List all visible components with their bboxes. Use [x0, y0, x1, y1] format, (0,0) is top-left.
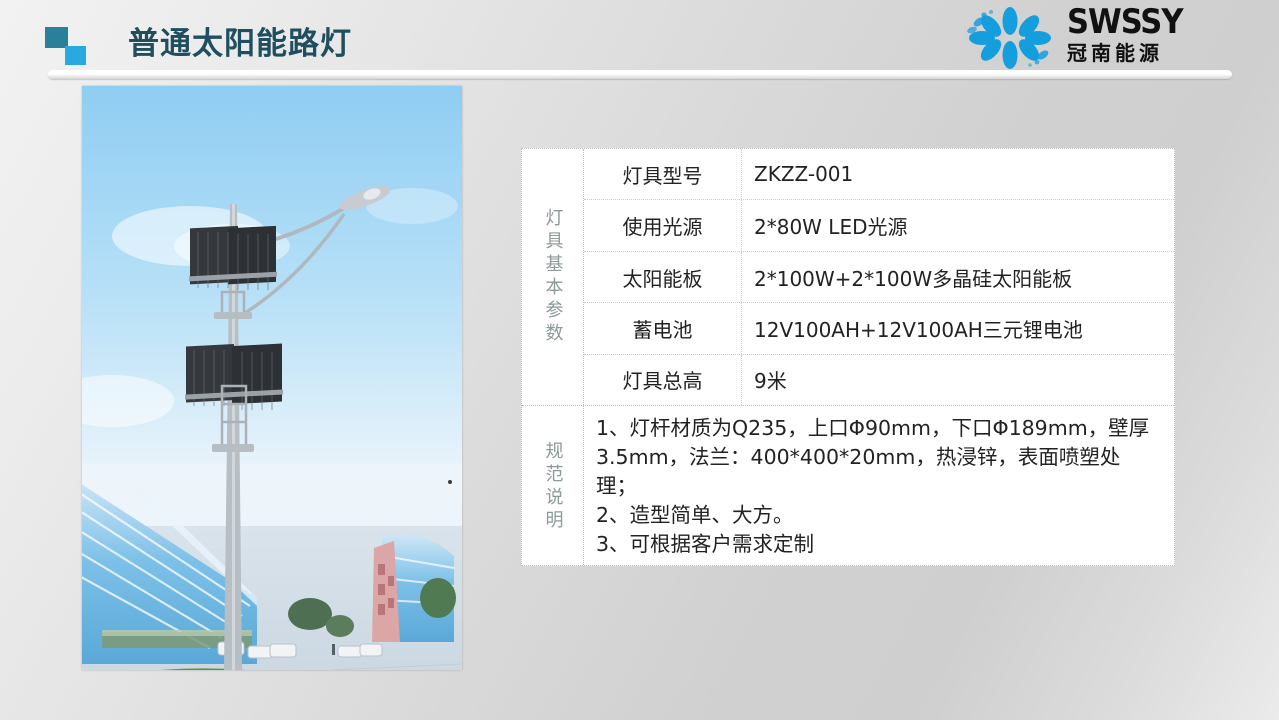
- row-value: 2*100W+2*100W多晶硅太阳能板: [742, 252, 1174, 302]
- basic-parameters-label: 灯具基本参数: [522, 149, 584, 405]
- company-logo: SWSSY 冠南能源: [959, 4, 1221, 70]
- specification-notes-body: 1、灯杆材质为Q235，上口Φ90mm，下口Φ189mm，壁厚3.5mm，法兰：…: [584, 406, 1174, 567]
- row-key: 灯具型号: [584, 149, 742, 199]
- petal-burst-emblem-icon: [959, 6, 1061, 70]
- specification-notes-label: 规范说明: [522, 406, 584, 567]
- decor-square-light-icon: [65, 46, 86, 65]
- row-value: 9米: [742, 355, 1174, 405]
- note-line: 1、灯杆材质为Q235，上口Φ90mm，下口Φ189mm，壁厚3.5mm，法兰：…: [596, 414, 1160, 501]
- specification-table: 灯具基本参数 灯具型号 ZKZZ-001 使用光源 2*80W LED光源 太阳…: [521, 148, 1175, 566]
- basic-parameters-rows: 灯具型号 ZKZZ-001 使用光源 2*80W LED光源 太阳能板 2*10…: [584, 149, 1174, 405]
- logo-text-group: SWSSY 冠南能源: [1067, 4, 1219, 66]
- table-row: 灯具型号 ZKZZ-001: [584, 149, 1174, 200]
- row-key: 使用光源: [584, 200, 742, 250]
- row-key: 蓄电池: [584, 303, 742, 353]
- decor-square-dark-icon: [45, 27, 68, 48]
- slide-root: 普通太阳能路灯: [0, 0, 1279, 720]
- note-line: 2、造型简单、大方。: [596, 501, 1160, 530]
- title-decoration-squares: [45, 27, 91, 65]
- page-title: 普通太阳能路灯: [128, 18, 352, 63]
- note-line: 3、可根据客户需求定制: [596, 530, 1160, 559]
- logo-chinese-name: 冠南能源: [1067, 40, 1219, 66]
- table-row: 灯具总高 9米: [584, 355, 1174, 405]
- row-key: 灯具总高: [584, 355, 742, 405]
- logo-wordmark: SWSSY: [1067, 4, 1219, 40]
- row-value: ZKZZ-001: [742, 149, 1174, 199]
- basic-parameters-block: 灯具基本参数 灯具型号 ZKZZ-001 使用光源 2*80W LED光源 太阳…: [522, 149, 1174, 406]
- header-divider-bar: [48, 70, 1232, 79]
- table-row: 太阳能板 2*100W+2*100W多晶硅太阳能板: [584, 252, 1174, 303]
- specification-notes-block: 规范说明 1、灯杆材质为Q235，上口Φ90mm，下口Φ189mm，壁厚3.5m…: [522, 406, 1174, 567]
- row-value: 12V100AH+12V100AH三元锂电池: [742, 303, 1174, 353]
- product-photo: [82, 86, 462, 670]
- slide-header: 普通太阳能路灯: [0, 0, 1279, 78]
- table-row: 蓄电池 12V100AH+12V100AH三元锂电池: [584, 303, 1174, 354]
- table-row: 使用光源 2*80W LED光源: [584, 200, 1174, 251]
- row-key: 太阳能板: [584, 252, 742, 302]
- row-value: 2*80W LED光源: [742, 200, 1174, 250]
